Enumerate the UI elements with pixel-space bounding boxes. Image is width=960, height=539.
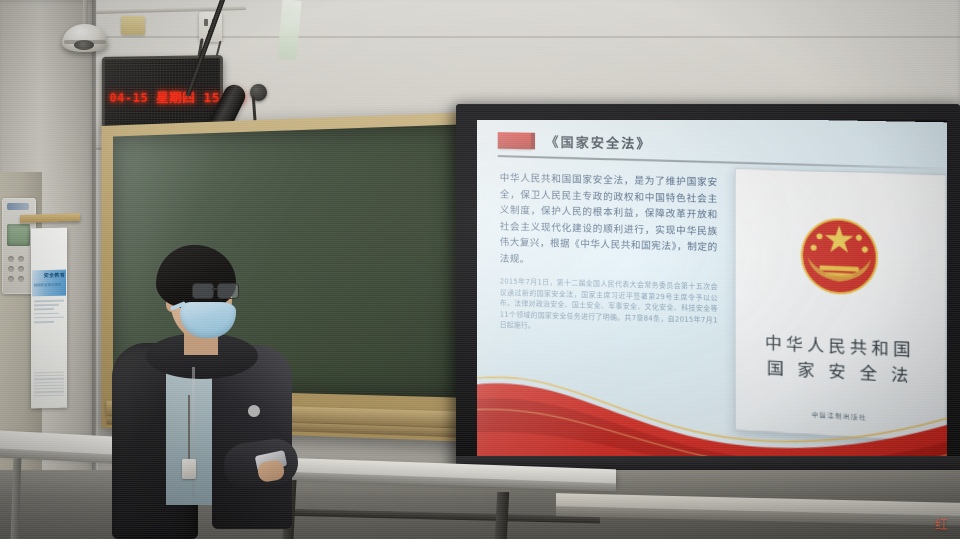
jacket-logo xyxy=(248,405,260,417)
slide-paragraph-sub: 2015年7月1日，第十二届全国人民代表大会常务委员会第十五次会议通过新的国家安… xyxy=(500,276,718,337)
slide-title-divider xyxy=(498,155,947,170)
camera-lens-icon xyxy=(74,40,94,50)
poster-subtitle: 校园安全常识宣传 xyxy=(34,282,61,288)
poster-footer-lines xyxy=(34,371,64,398)
control-panel-screen xyxy=(7,224,30,246)
led-clock-text: 04-15 星期四 15:59 xyxy=(109,87,214,106)
lanyard xyxy=(188,395,190,461)
bench-leg xyxy=(495,492,509,539)
display-screen[interactable]: 《国家安全法》 中华人民共和国国家安全法，是为了维护国家安全，保卫人民民主专政的… xyxy=(477,120,947,456)
eyeglasses-icon xyxy=(192,283,237,299)
flag-accent-icon xyxy=(498,132,531,149)
interactive-flat-panel[interactable]: 《国家安全法》 中华人民共和国国家安全法，是为了维护国家安全，保卫人民民主专政的… xyxy=(456,104,960,490)
control-panel-logo xyxy=(7,203,29,210)
control-button[interactable] xyxy=(8,276,14,282)
wall-seam-top xyxy=(0,36,960,38)
poster-body-lines xyxy=(34,300,64,326)
presentation-slide: 《国家安全法》 中华人民共和国国家安全法，是为了维护国家安全，保卫人民民主专政的… xyxy=(477,120,947,456)
control-button[interactable] xyxy=(8,256,14,262)
slide-title: 《国家安全法》 xyxy=(545,131,651,153)
control-button[interactable] xyxy=(8,266,14,272)
slide-red-ribbon-graphic xyxy=(477,338,947,456)
presenter xyxy=(106,245,296,539)
national-emblem-icon xyxy=(790,206,888,307)
slide-paragraph-main: 中华人民共和国国家安全法，是为了维护国家安全，保卫人民民主专政的政权和中国特色社… xyxy=(500,170,718,272)
control-button[interactable] xyxy=(18,266,24,272)
slide-text-column: 中华人民共和国国家安全法，是为了维护国家安全，保卫人民民主专政的政权和中国特色社… xyxy=(500,170,718,337)
id-badge xyxy=(182,459,196,479)
watermark: 红 xyxy=(935,514,948,533)
poster-title: 安全教育 xyxy=(44,272,65,279)
face-mask-icon xyxy=(180,302,236,338)
control-button[interactable] xyxy=(18,256,24,262)
wall-poster: 安全教育 校园安全常识宣传 xyxy=(31,228,67,409)
wall-plate-yellow xyxy=(121,16,145,35)
control-panel-buttons[interactable] xyxy=(6,254,32,282)
hair xyxy=(156,245,236,309)
classroom-scene: 安全教育 校园安全常识宣传 04-15 星期四 15:59 xyxy=(0,0,960,539)
control-button[interactable] xyxy=(18,276,24,282)
